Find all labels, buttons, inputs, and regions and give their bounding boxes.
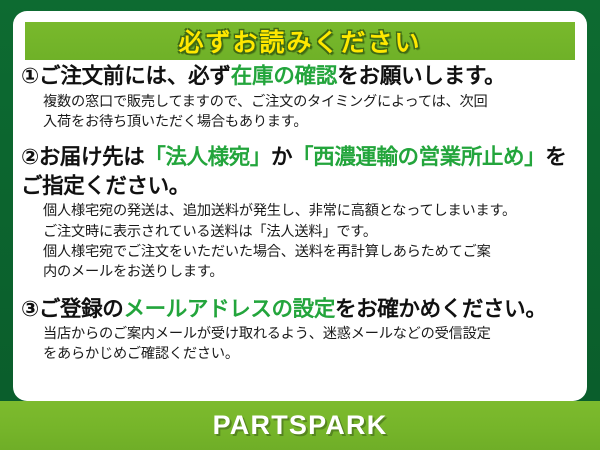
notice-item-2-subline-4: 内のメールをお送りします。 <box>43 262 577 282</box>
notice-item-2-subline-1: 個人様宅宛の発送は、追加送料が発生し、非常に高額となってしまいます。 <box>43 201 577 221</box>
notice-item-3-subline-1: 当店からのご案内メールが受け取れるよう、迷惑メールなどの受信設定 <box>43 324 577 344</box>
notice-item-3-subline-2: をあらかじめご確認ください。 <box>43 344 577 364</box>
notice-item-2: ②お届け先は「法人様宛」か「西濃運輸の営業所止め」をご指定ください。 個人様宅宛… <box>21 144 577 282</box>
notice-item-1-headline: ①ご注文前には、必ず在庫の確認をお願いします。 <box>21 63 577 92</box>
banner-title: 必ずお読みください <box>178 23 421 59</box>
notice-item-1-marker: ① <box>21 64 39 89</box>
notice-item-3-headline-pre: ご登録の <box>39 297 124 322</box>
notice-item-1: ①ご注文前には、必ず在庫の確認をお願いします。 複数の窓口で販売してますので、ご… <box>21 63 577 132</box>
notice-item-2-headline: ②お届け先は「法人様宛」か「西濃運輸の営業所止め」をご指定ください。 <box>21 144 577 201</box>
notice-item-3-subtext: 当店からのご案内メールが受け取れるよう、迷惑メールなどの受信設定 をあらかじめご… <box>21 324 577 365</box>
notice-item-2-subline-3: 個人様宅宛でご注文をいただいた場合、送料を再計算しあらためてご案 <box>43 242 577 262</box>
notice-item-3-marker: ③ <box>21 297 39 322</box>
notice-banner: 必ずお読みください ①ご注文前には、必ず在庫の確認をお願いします。 複数の窓口で… <box>0 0 600 450</box>
notice-item-3-headline-emphasis: メールアドレスの設定 <box>123 297 335 322</box>
notice-item-2-headline-mid: か <box>271 145 292 170</box>
notice-item-1-subline-2: 入荷をお待ち頂いただく場合もあります。 <box>43 112 577 132</box>
notice-item-2-marker: ② <box>21 145 39 170</box>
notice-item-3: ③ご登録のメールアドレスの設定をお確かめください。 当店からのご案内メールが受け… <box>21 296 577 365</box>
notice-card: 必ずお読みください ①ご注文前には、必ず在庫の確認をお願いします。 複数の窓口で… <box>13 11 587 401</box>
notice-item-1-headline-emphasis: 在庫の確認 <box>231 64 338 89</box>
notice-item-1-headline-pre: ご注文前には、必ず <box>39 64 231 89</box>
notice-item-1-headline-post: をお願いします。 <box>337 64 505 89</box>
notice-item-2-headline-emphasis2: 「西濃運輸の営業所止め」 <box>292 145 545 170</box>
title-bar: 必ずお読みください <box>25 22 575 60</box>
notice-item-3-headline: ③ご登録のメールアドレスの設定をお確かめください。 <box>21 296 577 325</box>
notice-item-2-headline-pre: お届け先は <box>39 145 145 170</box>
notice-item-1-subtext: 複数の窓口で販売してますので、ご注文のタイミングによっては、次回 入荷をお待ち頂… <box>21 92 577 133</box>
brand-footer: PARTSPARK <box>0 401 600 450</box>
notice-item-1-subline-1: 複数の窓口で販売してますので、ご注文のタイミングによっては、次回 <box>43 92 577 112</box>
notice-item-2-headline-emphasis: 「法人様宛」 <box>144 145 271 170</box>
brand-name: PARTSPARK <box>213 410 388 441</box>
notice-item-2-subline-2: ご注文時に表示されている送料は「法人送料」です。 <box>43 222 577 242</box>
notice-item-3-headline-post: をお確かめください。 <box>335 297 547 322</box>
notice-content: ①ご注文前には、必ず在庫の確認をお願いします。 複数の窓口で販売してますので、ご… <box>13 63 587 367</box>
notice-item-2-subtext: 個人様宅宛の発送は、追加送料が発生し、非常に高額となってしまいます。 ご注文時に… <box>21 201 577 282</box>
